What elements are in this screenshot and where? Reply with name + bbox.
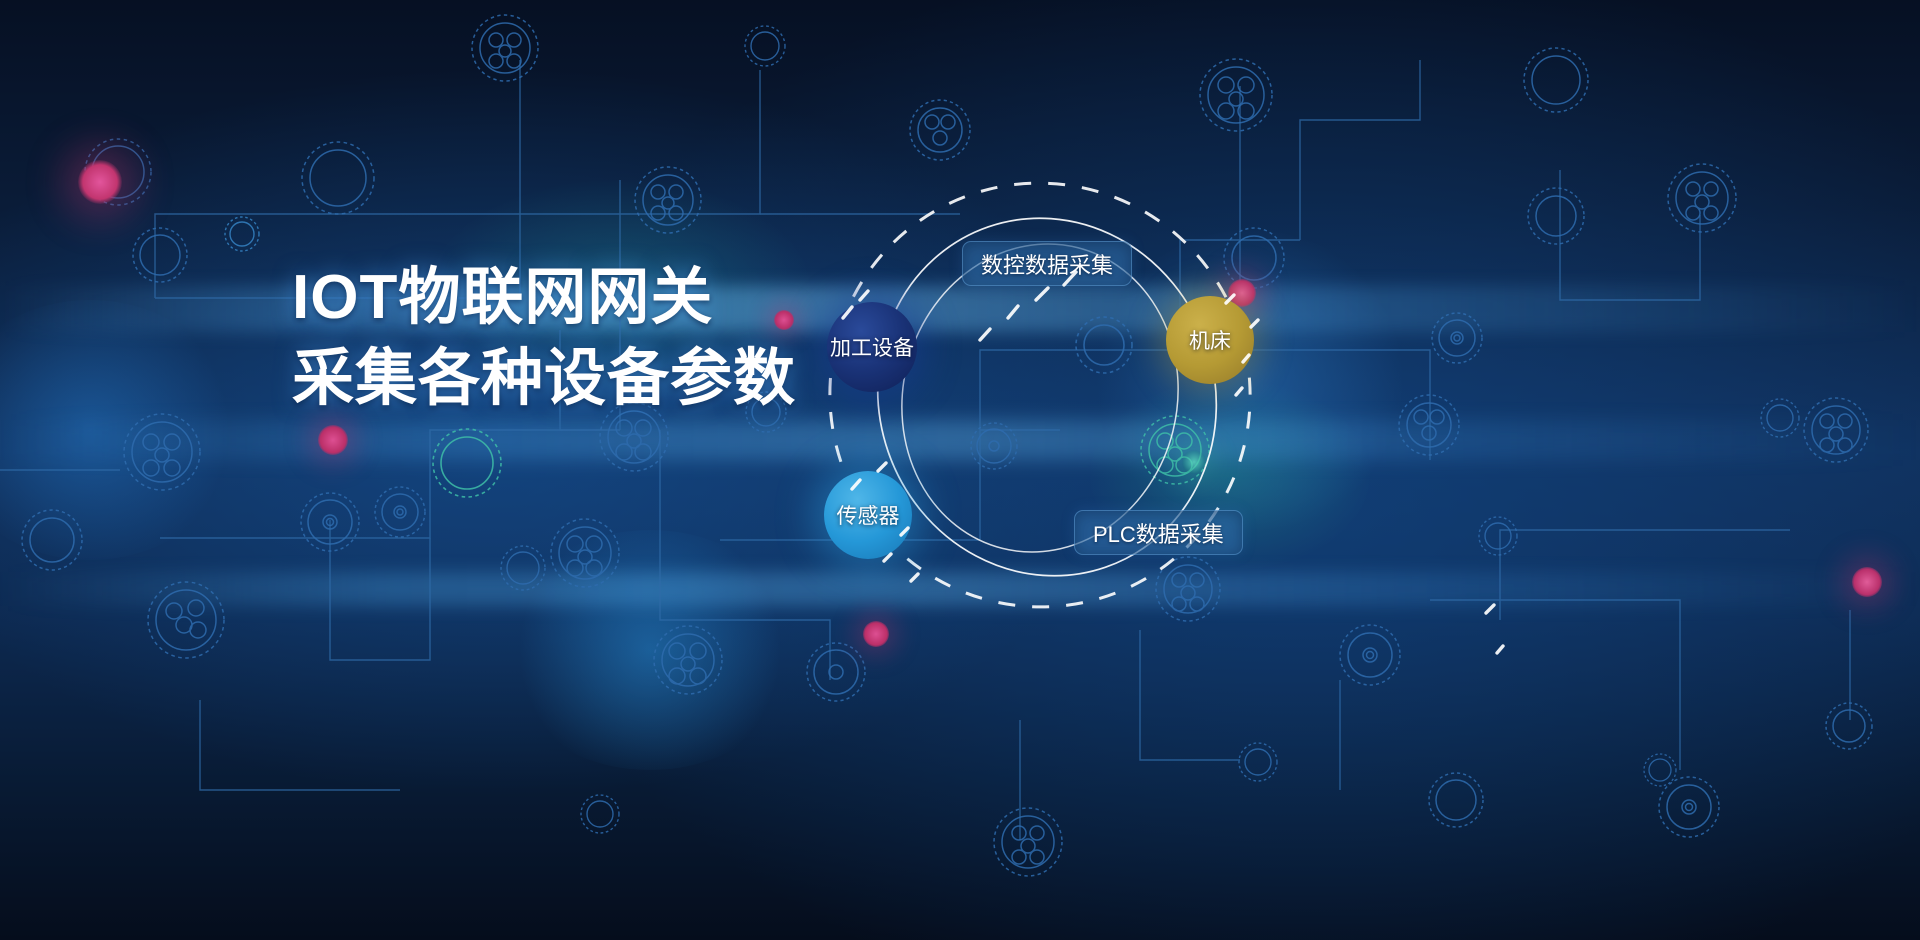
title-line-2: 采集各种设备参数	[292, 339, 796, 420]
title-line-1: IOT物联网网关	[292, 258, 796, 339]
page-title: IOT物联网网关 采集各种设备参数	[292, 258, 796, 419]
spark-streak-layer	[0, 0, 1920, 940]
iot-gateway-banner: IOT物联网网关 采集各种设备参数 加工设备 机床 传感器 数控数据采集 PLC…	[0, 0, 1920, 940]
